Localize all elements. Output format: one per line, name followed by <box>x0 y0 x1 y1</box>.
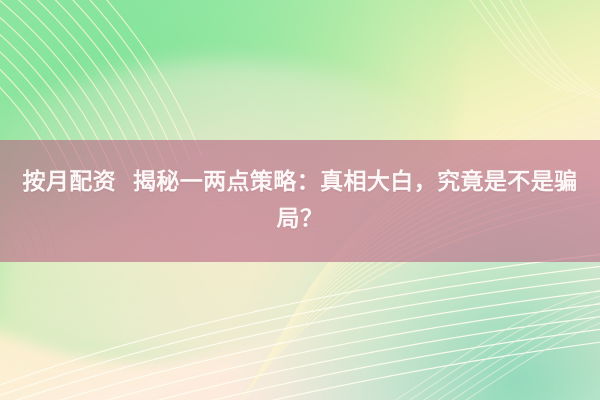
promo-banner: 按月配资 揭秘一两点策略：真相大白，究竟是不是骗局？ <box>0 0 600 400</box>
headline-band: 按月配资 揭秘一两点策略：真相大白，究竟是不是骗局？ <box>0 140 600 262</box>
headline-band-inner: 按月配资 揭秘一两点策略：真相大白，究竟是不是骗局？ <box>0 164 600 239</box>
banner-headline: 按月配资 揭秘一两点策略：真相大白，究竟是不是骗局？ <box>0 164 600 239</box>
